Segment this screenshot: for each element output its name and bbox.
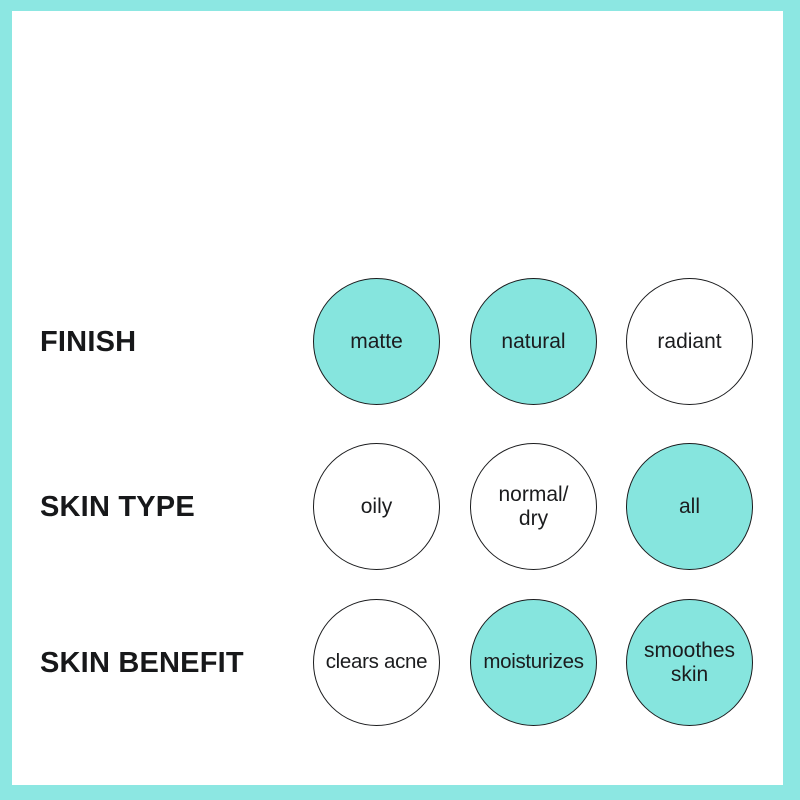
attribute-group-label-skin-benefit: SKIN BENEFIT (40, 597, 244, 729)
option-label: smoothes skin (643, 639, 736, 686)
attribute-group-finish: FINISH matte natural radiant (12, 276, 783, 408)
attribute-grid: FINISH matte natural radiant SKIN TYPE (12, 11, 783, 785)
attribute-group-skin-type: SKIN TYPE oily normal/ dry all (12, 441, 783, 573)
attribute-group-label-finish: FINISH (40, 276, 136, 408)
attribute-selector-panel: FINISH matte natural radiant SKIN TYPE (12, 11, 783, 785)
option-label: normal/ dry (497, 483, 569, 530)
screenshot-canvas: FINISH matte natural radiant SKIN TYPE (0, 0, 800, 800)
option-skin-benefit-moisturizes[interactable]: moisturizes (470, 599, 597, 726)
option-skin-type-oily[interactable]: oily (313, 443, 440, 570)
option-finish-matte[interactable]: matte (313, 278, 440, 405)
option-label: matte (349, 330, 404, 354)
attribute-group-label-skin-type: SKIN TYPE (40, 441, 195, 573)
option-label: radiant (656, 330, 722, 354)
option-finish-natural[interactable]: natural (470, 278, 597, 405)
option-label: clears acne (325, 651, 429, 674)
option-finish-radiant[interactable]: radiant (626, 278, 753, 405)
option-skin-type-normal-dry[interactable]: normal/ dry (470, 443, 597, 570)
option-skin-benefit-clears-acne[interactable]: clears acne (313, 599, 440, 726)
option-label: oily (360, 495, 394, 519)
option-label: moisturizes (482, 651, 584, 674)
option-skin-type-all[interactable]: all (626, 443, 753, 570)
attribute-group-skin-benefit: SKIN BENEFIT clears acne moisturizes smo… (12, 597, 783, 729)
option-label: natural (500, 330, 566, 354)
option-skin-benefit-smoothes-skin[interactable]: smoothes skin (626, 599, 753, 726)
option-label: all (678, 495, 701, 519)
